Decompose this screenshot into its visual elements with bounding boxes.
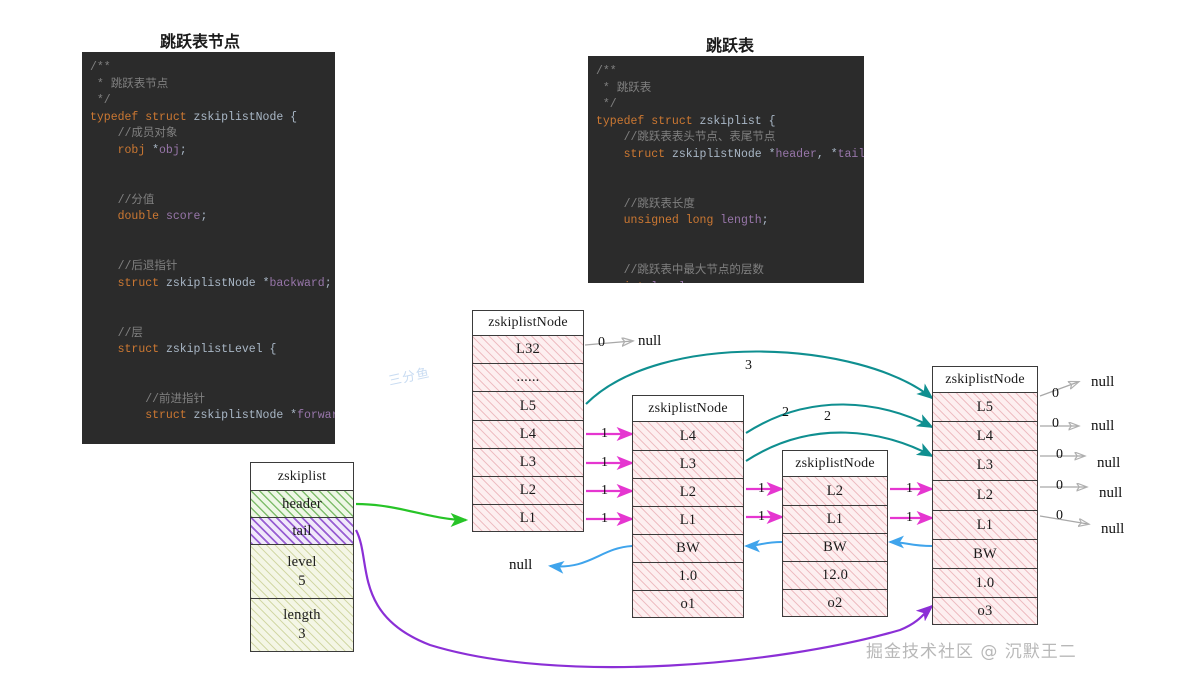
span-label-header-o3-l5: 3	[745, 358, 752, 374]
span-label-o1-o3-l4: 2	[782, 405, 789, 421]
skiplist-node-o2: zskiplistNodeL2L1BW12.0o2	[782, 450, 888, 617]
node-cell-L2: L2	[782, 476, 888, 505]
span-label-o3-null-l5: 0	[1052, 386, 1059, 402]
node-cell-BW: BW	[932, 539, 1038, 568]
node-cell-------: ......	[472, 363, 584, 391]
node-cell-L3: L3	[932, 450, 1038, 480]
code-block-zskiplistnode: /** * 跳跃表节点 */ typedef struct zskiplistN…	[82, 52, 335, 444]
zskiplist-field-tail: tail	[250, 517, 354, 544]
span-label-o2-o3-l1: 1	[906, 510, 913, 526]
span-label-header-o1-l3: 1	[601, 455, 608, 471]
link-o3-l5-null	[1040, 382, 1078, 396]
node-cell-L2: L2	[472, 476, 584, 504]
skiplist-node-o3: zskiplistNodeL5L4L3L2L1BW1.0o3	[932, 366, 1038, 625]
span-label-o3-null-l4: 0	[1052, 416, 1059, 432]
span-label-o3-null-l2: 0	[1056, 478, 1063, 494]
node-cell-L1: L1	[782, 505, 888, 533]
node-title: zskiplistNode	[782, 450, 888, 476]
code-block-zskiplist: /** * 跳跃表 */ typedef struct zskiplist { …	[588, 56, 864, 283]
watermark-main: 掘金技术社区 @ 沉默王二	[866, 637, 1077, 662]
span-label-o1-o3-l3: 2	[824, 409, 831, 425]
node-cell-L4: L4	[472, 420, 584, 448]
skiplist-node-header: zskiplistNodeL32......L5L4L3L2L1	[472, 310, 584, 532]
section-title-node: 跳跃表节点	[160, 28, 240, 52]
watermark-faint: 三分鱼	[386, 362, 431, 389]
null-label-o3-l4: null	[1091, 418, 1114, 435]
node-cell-L1: L1	[932, 510, 1038, 539]
node-cell-L5: L5	[932, 392, 1038, 421]
null-label-o1-backward: null	[509, 557, 532, 574]
zskiplist-field-label: length	[283, 607, 320, 624]
span-label-o1-o2-l1: 1	[758, 509, 765, 525]
null-label-o3-l3: null	[1097, 455, 1120, 472]
link-o3-l1-null	[1040, 516, 1088, 524]
span-label-o3-null-l3: 0	[1056, 447, 1063, 463]
link-o3-backward-o2	[890, 542, 932, 546]
node-cell-1-0: 1.0	[932, 568, 1038, 597]
node-title: zskiplistNode	[932, 366, 1038, 392]
link-o2-backward-o1	[746, 542, 782, 546]
zskiplist-field-value: 5	[298, 573, 305, 590]
zskiplist-field-label: level	[287, 554, 316, 571]
zskiplist-box-title: zskiplist	[250, 462, 354, 490]
node-title: zskiplistNode	[472, 310, 584, 335]
node-cell-L2: L2	[632, 478, 744, 506]
node-cell-L1: L1	[472, 504, 584, 532]
node-cell-o1: o1	[632, 590, 744, 618]
node-title: zskiplistNode	[632, 395, 744, 421]
span-label-header-o1-l1: 1	[601, 511, 608, 527]
zskiplist-struct-box: zskiplistheadertaillevel5length3	[250, 462, 354, 652]
skiplist-node-o1: zskiplistNodeL4L3L2L1BW1.0o1	[632, 395, 744, 618]
null-label-o3-l5: null	[1091, 374, 1114, 391]
node-cell-BW: BW	[782, 533, 888, 561]
span-label-header-o1-l4: 1	[601, 426, 608, 442]
node-cell-1-0: 1.0	[632, 562, 744, 590]
node-cell-L1: L1	[632, 506, 744, 534]
link-o1-l4-to-o3-l4	[746, 404, 932, 433]
node-cell-L4: L4	[632, 421, 744, 450]
span-label-l32-null: 0	[598, 335, 605, 351]
null-label-o3-l2: null	[1099, 485, 1122, 502]
node-cell-L2: L2	[932, 480, 1038, 510]
node-cell-L3: L3	[472, 448, 584, 476]
node-cell-o2: o2	[782, 589, 888, 617]
span-label-header-o1-l2: 1	[601, 483, 608, 499]
node-cell-L3: L3	[632, 450, 744, 478]
diagram-canvas: 跳跃表节点 跳跃表 /** * 跳跃表节点 */ typedef struct …	[0, 0, 1181, 684]
span-label-o3-null-l1: 0	[1056, 508, 1063, 524]
span-label-o1-o2-l2: 1	[758, 481, 765, 497]
node-cell-12-0: 12.0	[782, 561, 888, 589]
section-title-list: 跳跃表	[706, 32, 754, 56]
zskiplist-field-value: 3	[298, 626, 305, 643]
null-label-o3-l1: null	[1101, 521, 1124, 538]
zskiplist-field-header: header	[250, 490, 354, 517]
zskiplist-field-length: length3	[250, 598, 354, 652]
link-header-to-first-node	[356, 504, 466, 520]
node-cell-L32: L32	[472, 335, 584, 363]
link-l32-null	[585, 341, 632, 345]
node-cell-L5: L5	[472, 391, 584, 420]
node-cell-o3: o3	[932, 597, 1038, 625]
node-cell-L4: L4	[932, 421, 1038, 450]
span-label-o2-o3-l2: 1	[906, 481, 913, 497]
link-o1-backward-null	[550, 546, 632, 566]
zskiplist-field-level: level5	[250, 544, 354, 598]
node-cell-BW: BW	[632, 534, 744, 562]
null-label-header-top: null	[638, 333, 661, 350]
